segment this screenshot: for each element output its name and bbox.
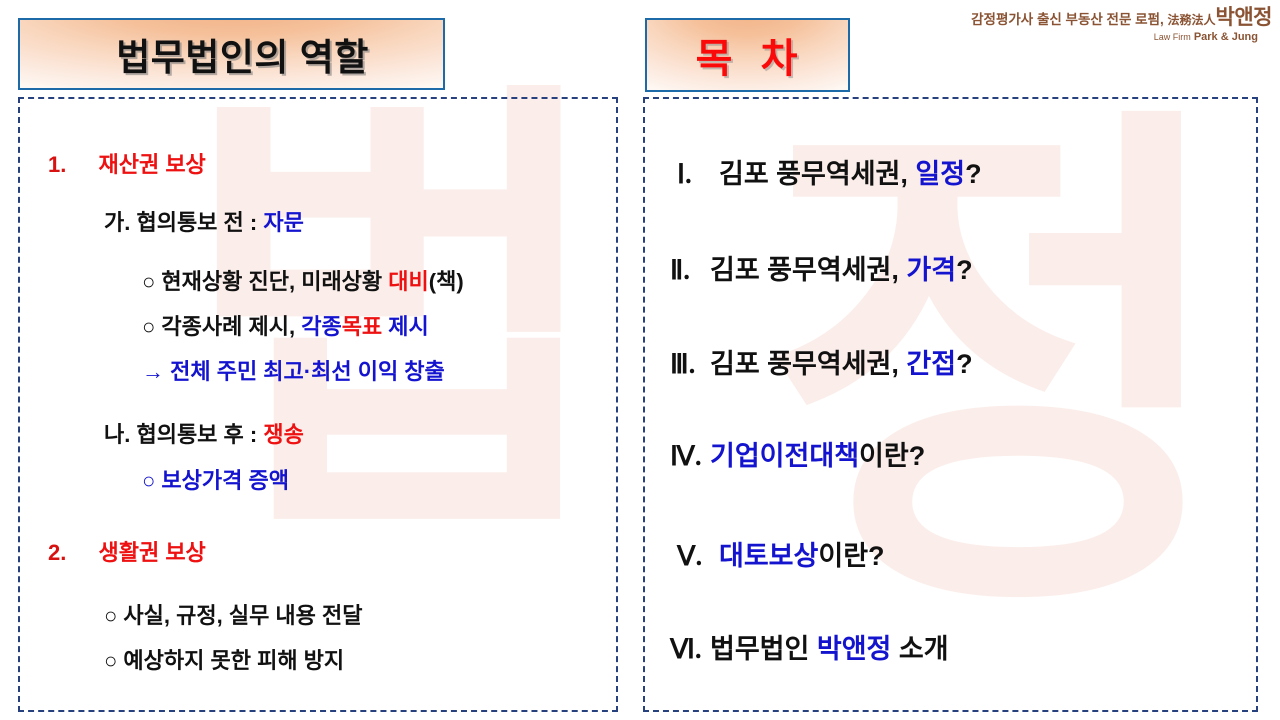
toc-3-text-pre: 김포 풍무역세권, xyxy=(710,349,906,379)
toc-5-text-post: 이란? xyxy=(818,541,884,571)
toc-2-roman: Ⅱ. xyxy=(670,257,710,284)
right-title-box: 목 차 xyxy=(645,18,850,92)
item-5-text: 전체 주민 최고·최선 이익 창출 xyxy=(170,359,445,384)
left-content-panel: 1. 재산권 보상 가. 협의통보 전 : 자문 ○ 현재상황 진단, 미래상황… xyxy=(18,97,618,712)
item-8-label: 생활권 보상 xyxy=(72,540,205,565)
brand-hanja: 法務法人 xyxy=(1168,13,1216,27)
toc-item: Ⅱ.김포 풍무역세권, 가격? xyxy=(670,257,973,284)
toc-2-keyword: 가격 xyxy=(906,255,956,285)
list-item: ○ 현재상황 진단, 미래상황 대비(책) xyxy=(142,271,464,293)
item-2-label: 가. 협의통보 전 : xyxy=(104,210,263,235)
brand-lawfirm-label: Law Firm xyxy=(1154,32,1191,42)
list-item: 가. 협의통보 전 : 자문 xyxy=(104,212,304,234)
item-9-text: 사실, 규정, 실무 내용 전달 xyxy=(123,603,362,628)
item-2-value: 자문 xyxy=(263,210,303,235)
brand-header: 감정평가사 출신 부동산 전문 로펌, 法務法人박앤정 Law Firm Par… xyxy=(971,6,1272,43)
item-7-text: 보상가격 증액 xyxy=(161,468,289,493)
toc-1-text-post: ? xyxy=(965,159,982,189)
arrow-right-icon: → xyxy=(142,359,164,384)
item-6-value: 쟁송 xyxy=(263,422,303,447)
list-item: 2. 생활권 보상 xyxy=(48,542,206,564)
toc-4-keyword: 기업이전대책 xyxy=(710,441,859,471)
item-10-text: 예상하지 못한 피해 방지 xyxy=(123,648,344,673)
item-1-label: 재산권 보상 xyxy=(72,152,205,177)
list-item: ○ 사실, 규정, 실무 내용 전달 xyxy=(104,605,363,627)
list-item: → 전체 주민 최고·최선 이익 창출 xyxy=(142,361,445,383)
right-content-panel: Ⅰ.김포 풍무역세권, 일정? Ⅱ.김포 풍무역세권, 가격? Ⅲ.김포 풍무역… xyxy=(643,97,1258,712)
left-title-box: 법무법인의 역할 xyxy=(18,18,445,90)
circle-bullet-icon: ○ xyxy=(104,603,117,628)
right-title-text: 목 차 xyxy=(647,26,848,84)
toc-4-text-post: 이란? xyxy=(859,441,925,471)
toc-3-roman: Ⅲ. xyxy=(670,351,710,378)
toc-5-keyword: 대토보상 xyxy=(719,541,818,571)
item-3-text-c: (책) xyxy=(429,269,464,294)
item-4-text-a: 각종사례 제시, xyxy=(161,314,301,339)
list-item: ○ 보상가격 증액 xyxy=(142,470,289,492)
item-3-text-b: 대비 xyxy=(388,269,428,294)
item-6-label: 나. 협의통보 후 : xyxy=(104,422,263,447)
toc-2-text-post: ? xyxy=(956,255,973,285)
toc-1-keyword: 일정 xyxy=(915,159,965,189)
item-3-text-a: 현재상황 진단, 미래상황 xyxy=(161,269,388,294)
toc-4-roman: Ⅳ. xyxy=(670,443,710,470)
toc-item: Ⅰ.김포 풍무역세권, 일정? xyxy=(677,161,982,188)
toc-item: Ⅴ.대토보상이란? xyxy=(677,543,885,570)
toc-6-keyword: 박앤정 xyxy=(817,634,892,664)
toc-3-text-post: ? xyxy=(956,349,973,379)
left-title-text: 법무법인의 역할 xyxy=(20,27,443,81)
list-item: ○ 예상하지 못한 피해 방지 xyxy=(104,650,344,672)
toc-6-text-post: 소개 xyxy=(891,634,948,664)
circle-bullet-icon: ○ xyxy=(104,648,117,673)
item-4-text-b: 각종 xyxy=(301,314,341,339)
item-1-number: 1. xyxy=(48,152,66,177)
brand-firm-name-roman: Park & Jung xyxy=(1194,31,1258,43)
list-item: 1. 재산권 보상 xyxy=(48,154,206,176)
toc-3-keyword: 간접 xyxy=(906,349,956,379)
toc-6-roman: Ⅵ. xyxy=(670,636,710,663)
circle-bullet-icon: ○ xyxy=(142,468,155,493)
toc-5-roman: Ⅴ. xyxy=(677,543,719,570)
slide: 법 정 법무법인의 역할 목 차 감정평가사 출신 부동산 전문 로펌, 法務法… xyxy=(0,0,1280,720)
brand-comma: , xyxy=(1160,12,1168,27)
circle-bullet-icon: ○ xyxy=(142,269,155,294)
toc-2-text-pre: 김포 풍무역세권, xyxy=(710,255,906,285)
item-8-number: 2. xyxy=(48,540,66,565)
brand-tagline: 감정평가사 출신 부동산 전문 로펌 xyxy=(971,12,1160,27)
toc-1-roman: Ⅰ. xyxy=(677,161,719,188)
circle-bullet-icon: ○ xyxy=(142,314,155,339)
item-4-text-d: 제시 xyxy=(382,314,429,339)
brand-line-primary: 감정평가사 출신 부동산 전문 로펌, 法務法人박앤정 xyxy=(971,6,1272,30)
toc-item: Ⅵ.법무법인 박앤정 소개 xyxy=(670,636,949,663)
toc-6-text-pre: 법무법인 xyxy=(710,634,817,664)
toc-item: Ⅲ.김포 풍무역세권, 간접? xyxy=(670,351,973,378)
brand-line-secondary: Law Firm Park & Jung xyxy=(971,31,1258,43)
toc-item: Ⅳ.기업이전대책이란? xyxy=(670,443,925,470)
item-4-text-c: 목표 xyxy=(342,314,382,339)
list-item: ○ 각종사례 제시, 각종목표 제시 xyxy=(142,316,429,338)
brand-firm-name: 박앤정 xyxy=(1216,6,1272,29)
toc-1-text-pre: 김포 풍무역세권, xyxy=(719,159,915,189)
list-item: 나. 협의통보 후 : 쟁송 xyxy=(104,424,304,446)
